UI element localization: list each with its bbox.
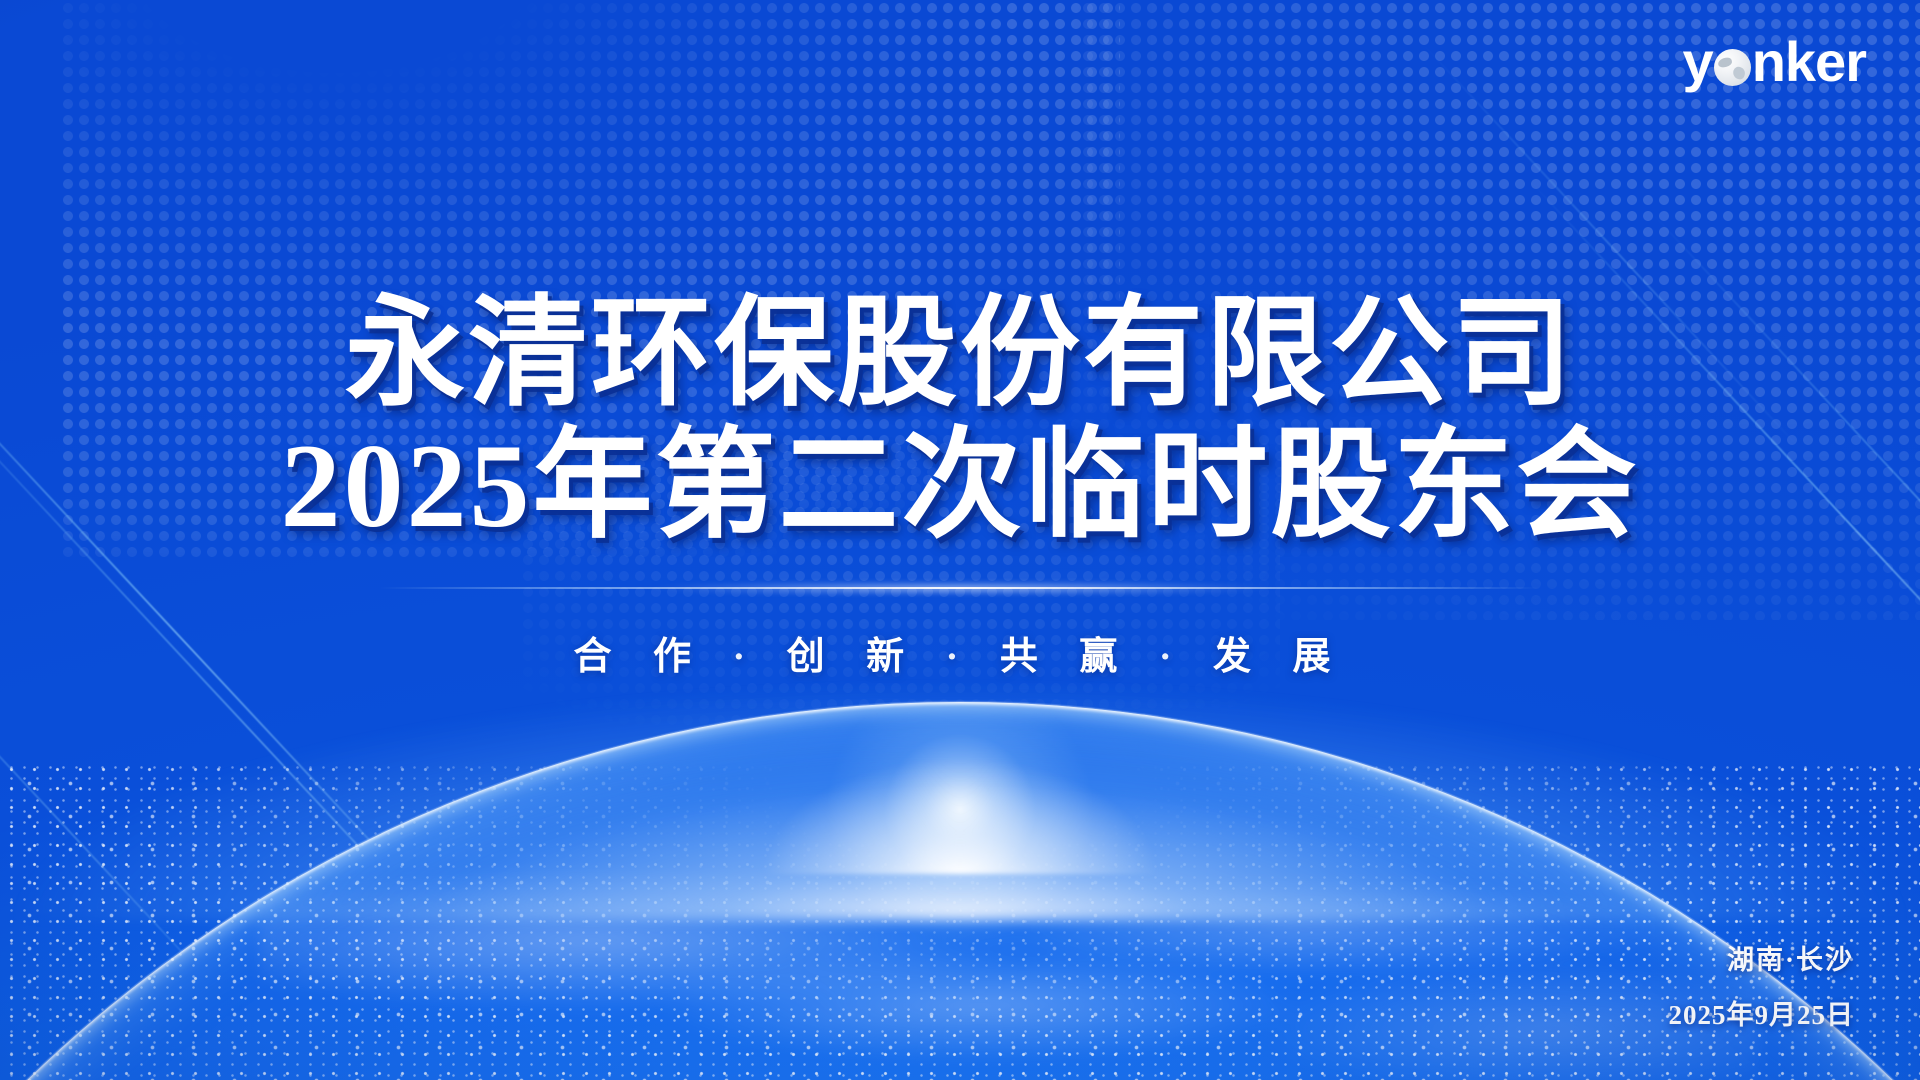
slogan-separator-3: · bbox=[1159, 636, 1188, 678]
event-date: 2025年9月25日 bbox=[1669, 993, 1855, 1032]
brand-logo[interactable]: y nker bbox=[1683, 34, 1866, 90]
brand-logo-text-before: y bbox=[1683, 34, 1713, 90]
city-lights-speckle bbox=[0, 760, 1920, 1080]
slogan-word-1: 合 作 bbox=[573, 636, 707, 678]
slogan-word-3: 共 赢 bbox=[1000, 636, 1134, 678]
page-title-line-2: 2025年第二次临时股东会 bbox=[0, 418, 1920, 554]
brand-logo-text: y nker bbox=[1683, 34, 1866, 90]
earth-sphere bbox=[0, 702, 1920, 1080]
page-title-line-1: 永清环保股份有限公司 bbox=[0, 286, 1920, 422]
divider-light-line bbox=[380, 579, 1540, 597]
slogan-separator-1: · bbox=[732, 636, 761, 678]
headline-block: 永清环保股份有限公司 2025年第二次临时股东会 合 作 · 创 新 · 共 赢… bbox=[0, 286, 1920, 680]
event-meta: 湖南·长沙 2025年9月25日 bbox=[1669, 938, 1855, 1032]
earth-horizon-graphic bbox=[0, 610, 1920, 1080]
globe-icon bbox=[1714, 49, 1751, 86]
slogan-word-2: 创 新 bbox=[787, 636, 921, 678]
cloud-haze bbox=[260, 820, 1760, 1080]
earth-rim-glow bbox=[0, 702, 1920, 1080]
slogan-separator-2: · bbox=[946, 636, 975, 678]
event-location: 湖南·长沙 bbox=[1669, 938, 1855, 977]
slogan: 合 作 · 创 新 · 共 赢 · 发 展 bbox=[0, 625, 1920, 680]
slogan-word-4: 发 展 bbox=[1213, 636, 1347, 678]
brand-logo-text-after: nker bbox=[1752, 34, 1866, 90]
presentation-backdrop: y nker 永清环保股份有限公司 2025年第二次临时股东会 合 作 · 创 … bbox=[0, 0, 1920, 1080]
